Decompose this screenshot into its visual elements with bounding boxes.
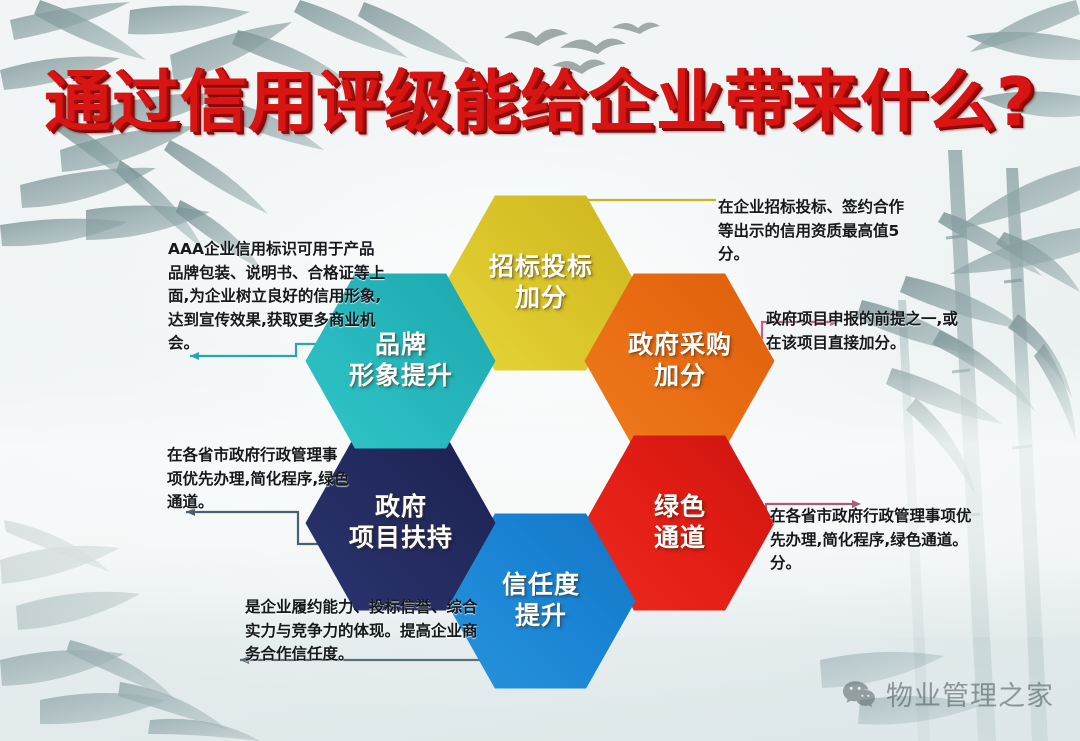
note-bidding: 在企业招标投标、签约合作等出示的信用资质最高值5分。 [718,196,914,267]
hex-green-line1: 绿色 [653,493,705,524]
note-government-project-support: 在各省市政府行政管理事项优先办理,简化程序,绿色通道。 [167,444,352,515]
hex-proj-line2: 项目扶持 [348,523,452,554]
page-title: 通过信用评级能给企业带来什么? [0,68,1080,136]
watermark: 物业管理之家 [842,674,1054,713]
poster-canvas: 通过信用评级能给企业带来什么? [0,0,1080,741]
note-trust-improvement: 是企业履约能力、投标信誉、综合实力与竞争力的体现。提高企业商务合作信任度。 [245,596,491,667]
hex-gov-line2: 加分 [653,361,705,392]
note-brand-image: AAA企业信用标识可用于产品品牌包装、说明书、合格证等上面,为企业树立良好的信用… [168,238,386,356]
hex-green-line2: 通道 [653,523,705,554]
watermark-text: 物业管理之家 [886,674,1054,713]
hex-bidding-line2: 加分 [514,283,566,314]
wechat-icon [842,679,876,709]
hex-proj-line1: 政府 [374,493,426,524]
hex-gov-line1: 政府采购 [627,331,731,362]
hex-trust-line2: 提升 [514,601,566,632]
hex-trust-line1: 信任度 [501,571,579,602]
hex-bidding-line1: 招标投标 [488,253,592,284]
hex-brand-line2: 形象提升 [348,361,452,392]
note-green-channel: 在各省市政府行政管理事项优先办理,简化程序,绿色通道。分。 [770,505,984,576]
note-government-procurement: 政府项目申报的前提之一,或在该项目直接加分。 [766,308,962,355]
